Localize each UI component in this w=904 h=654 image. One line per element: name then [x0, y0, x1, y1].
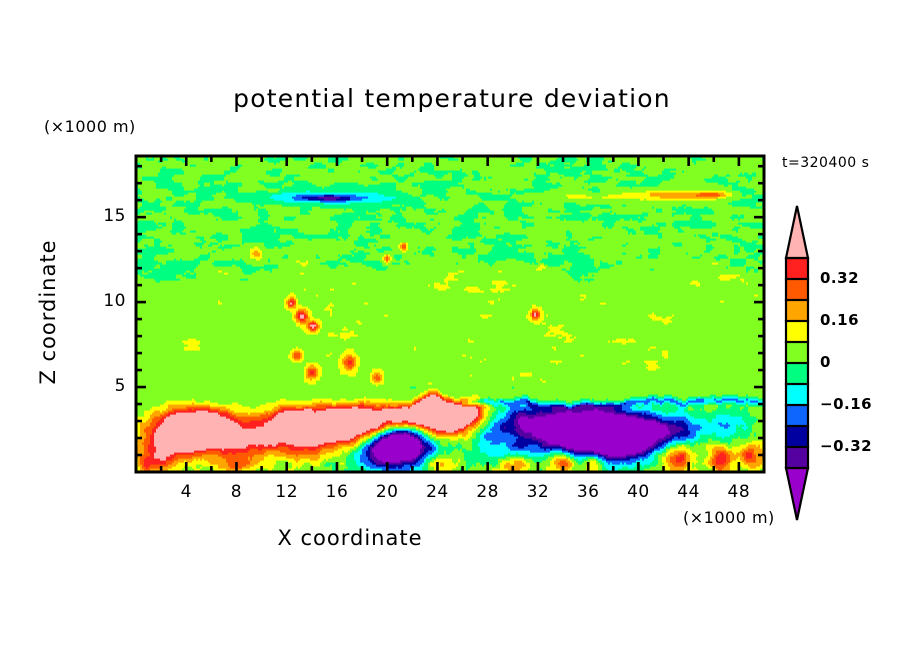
y-tick-label: 10: [94, 291, 126, 311]
page-title: potential temperature deviation: [0, 84, 904, 113]
x-axis-title: X coordinate: [0, 526, 700, 550]
x-tick-label: 16: [324, 482, 350, 502]
x-tick-label: 48: [726, 482, 752, 502]
y-axis-unit-label: (×1000 m): [44, 117, 136, 136]
x-tick-label: 20: [374, 482, 400, 502]
x-tick-label: 32: [525, 482, 551, 502]
x-tick-label: 40: [625, 482, 651, 502]
x-tick-label: 28: [475, 482, 501, 502]
colorbar-tick-label: 0.32: [820, 269, 859, 287]
colorbar-tick-label: −0.16: [820, 395, 872, 413]
timestamp-label: t=320400 s: [782, 155, 869, 171]
x-axis-unit-label: (×1000 m): [683, 508, 775, 527]
x-tick-label: 36: [575, 482, 601, 502]
colorbar-tick-label: 0: [820, 353, 831, 371]
y-tick-label: 15: [94, 206, 126, 226]
x-tick-label: 8: [223, 482, 249, 502]
y-tick-label: 5: [94, 376, 126, 396]
colorbar-tick-label: −0.32: [820, 437, 872, 455]
colorbar-tick-label: 0.16: [820, 311, 859, 329]
figure-canvas: potential temperature deviation (×1000 m…: [0, 0, 904, 654]
colorbar: [786, 206, 808, 520]
x-tick-label: 12: [274, 482, 300, 502]
y-axis-title: Z coordinate: [36, 202, 60, 422]
x-tick-label: 24: [424, 482, 450, 502]
x-tick-label: 4: [173, 482, 199, 502]
x-tick-label: 44: [676, 482, 702, 502]
contour-field: [136, 156, 765, 473]
